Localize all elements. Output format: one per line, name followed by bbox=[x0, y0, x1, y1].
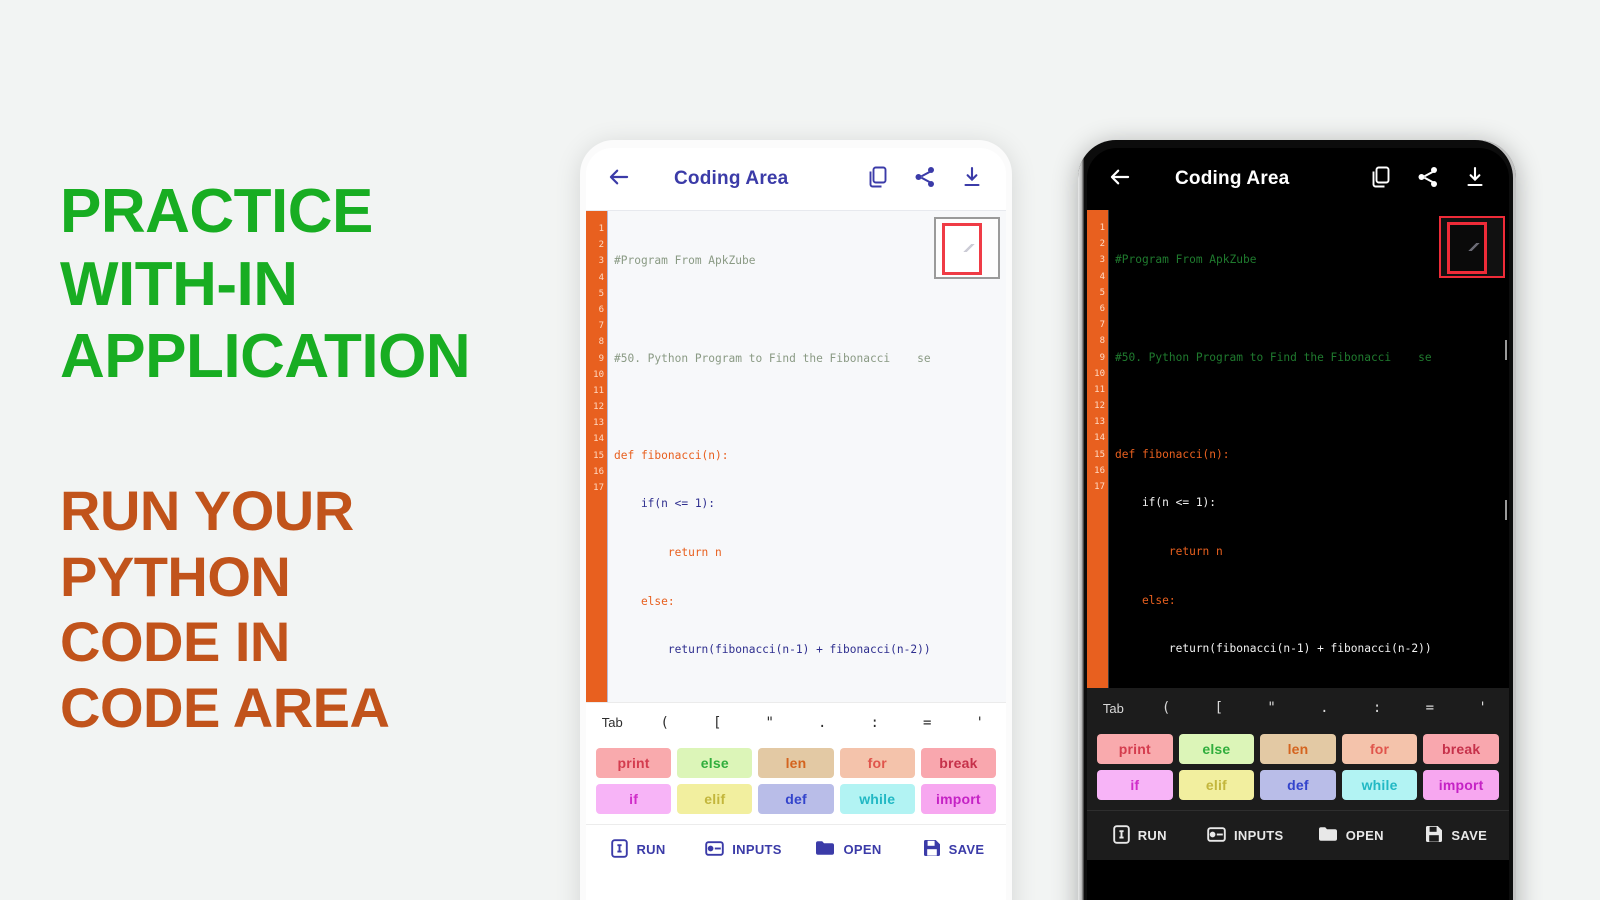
line-number: 17 bbox=[1087, 479, 1105, 495]
editor-scrollbar[interactable] bbox=[1505, 500, 1507, 520]
keyword-row-2: if elif def while import bbox=[596, 784, 996, 814]
keyword-def[interactable]: def bbox=[1260, 770, 1336, 800]
keyword-row-1: print else len for break bbox=[1097, 734, 1499, 764]
magnifier-preview-lines bbox=[955, 244, 983, 252]
symbol-key-colon[interactable]: : bbox=[1351, 700, 1404, 716]
action-bar-dark: RUN INPUTS OPEN bbox=[1087, 810, 1509, 860]
code-line: #50. Python Program to Find the Fibonacc… bbox=[1115, 350, 1509, 366]
symbol-key-paren[interactable]: ( bbox=[639, 715, 692, 731]
page-title: Coding Area bbox=[674, 168, 788, 190]
code-line: return(fibonacci(n-1) + fibonacci(n-2)) bbox=[614, 642, 1006, 658]
selection-magnifier bbox=[1439, 216, 1505, 278]
symbol-key-quote[interactable]: " bbox=[1245, 700, 1298, 716]
open-label: OPEN bbox=[843, 842, 881, 857]
headline-run-python: RUN YOUR PYTHON CODE IN CODE AREA bbox=[60, 478, 389, 740]
line-number: 9 bbox=[586, 351, 604, 367]
run-label: RUN bbox=[636, 842, 665, 857]
folder-icon bbox=[815, 840, 835, 859]
line-number-gutter: 1 2 3 4 5 6 7 8 9 10 11 12 13 14 15 16 1 bbox=[1087, 210, 1109, 688]
keyword-def[interactable]: def bbox=[758, 784, 833, 814]
line-number: 13 bbox=[1087, 414, 1105, 430]
appbar-actions-light bbox=[868, 166, 988, 193]
line-number: 8 bbox=[586, 334, 604, 350]
back-arrow-icon[interactable] bbox=[1109, 168, 1131, 191]
magnifier-selection-box bbox=[1447, 222, 1487, 274]
line-number: 1 bbox=[1087, 220, 1105, 236]
keyword-print[interactable]: print bbox=[596, 748, 671, 778]
download-icon[interactable] bbox=[1465, 166, 1485, 193]
keyword-while[interactable]: while bbox=[840, 784, 915, 814]
line-number: 15 bbox=[1087, 447, 1105, 463]
phone-light-theme: Coding Area 1 2 bbox=[580, 140, 1012, 900]
share-icon[interactable] bbox=[1417, 166, 1439, 193]
line-number: 4 bbox=[586, 270, 604, 286]
line-number: 6 bbox=[586, 302, 604, 318]
line-number: 6 bbox=[1087, 301, 1105, 317]
code-editor-dark[interactable]: 1 2 3 4 5 6 7 8 9 10 11 12 13 14 15 16 1 bbox=[1087, 210, 1509, 688]
app-screen-light: Coding Area 1 2 bbox=[586, 148, 1006, 900]
symbol-key-equals[interactable]: = bbox=[1404, 700, 1457, 716]
inputs-icon bbox=[1207, 826, 1226, 846]
line-number: 16 bbox=[1087, 463, 1105, 479]
code-line: def fibonacci(n): bbox=[614, 448, 1006, 464]
inputs-button[interactable]: INPUTS bbox=[691, 840, 796, 860]
symbol-key-bracket[interactable]: [ bbox=[691, 715, 744, 731]
run-icon bbox=[611, 839, 628, 861]
open-label: OPEN bbox=[1346, 828, 1384, 843]
line-number: 5 bbox=[586, 286, 604, 302]
line-number: 16 bbox=[586, 464, 604, 480]
run-label: RUN bbox=[1138, 828, 1167, 843]
marketing-copy: PRACTICE WITH-IN APPLICATION RUN YOUR PY… bbox=[60, 0, 540, 900]
copy-icon[interactable] bbox=[868, 166, 888, 193]
line-number-gutter: 1 2 3 4 5 6 7 8 9 10 11 12 13 14 15 16 1 bbox=[586, 211, 608, 702]
code-line: return n bbox=[1115, 544, 1509, 560]
code-line bbox=[614, 302, 1006, 318]
line-number: 12 bbox=[586, 399, 604, 415]
appbar-actions-dark bbox=[1371, 166, 1491, 193]
line-number: 3 bbox=[586, 253, 604, 269]
run-button[interactable]: RUN bbox=[586, 839, 691, 861]
symbol-key-dot[interactable]: . bbox=[796, 715, 849, 731]
line-number: 1 bbox=[586, 221, 604, 237]
open-button[interactable]: OPEN bbox=[796, 840, 901, 859]
keyword-else[interactable]: else bbox=[1179, 734, 1255, 764]
symbol-key-bracket[interactable]: [ bbox=[1193, 700, 1246, 716]
keyword-elif[interactable]: elif bbox=[677, 784, 752, 814]
save-label: SAVE bbox=[1451, 828, 1487, 843]
keyword-import[interactable]: import bbox=[921, 784, 996, 814]
code-text-light[interactable]: #Program From ApkZube #50. Python Progra… bbox=[608, 211, 1006, 702]
keyword-break[interactable]: break bbox=[921, 748, 996, 778]
promo-banner: PRACTICE WITH-IN APPLICATION RUN YOUR PY… bbox=[0, 0, 1600, 900]
symbol-key-row-light[interactable]: Tab ( [ " . : = ' bbox=[586, 702, 1006, 742]
open-button[interactable]: OPEN bbox=[1298, 826, 1404, 845]
code-line: if(n <= 1): bbox=[1115, 495, 1509, 511]
app-screen-dark: Coding Area 1 2 bbox=[1087, 148, 1509, 900]
save-icon bbox=[923, 839, 941, 860]
keyword-while[interactable]: while bbox=[1342, 770, 1418, 800]
keyword-len[interactable]: len bbox=[758, 748, 833, 778]
save-button[interactable]: SAVE bbox=[1404, 825, 1510, 846]
code-text-dark[interactable]: #Program From ApkZube #50. Python Progra… bbox=[1109, 210, 1509, 688]
download-icon[interactable] bbox=[962, 166, 982, 193]
keyword-len[interactable]: len bbox=[1260, 734, 1336, 764]
symbol-key-apostrophe[interactable]: ' bbox=[1456, 700, 1509, 716]
symbol-key-tab[interactable]: Tab bbox=[1087, 701, 1140, 716]
line-number: 13 bbox=[586, 415, 604, 431]
line-number: 5 bbox=[1087, 285, 1105, 301]
line-number: 4 bbox=[1087, 269, 1105, 285]
keyword-row-2: if elif def while import bbox=[1097, 770, 1499, 800]
keyword-pad-light: print else len for break if elif def whi… bbox=[586, 742, 1006, 824]
inputs-button[interactable]: INPUTS bbox=[1193, 826, 1299, 846]
symbol-key-tab[interactable]: Tab bbox=[586, 715, 639, 730]
code-line: else: bbox=[1115, 593, 1509, 609]
line-number: 7 bbox=[586, 318, 604, 334]
folder-icon bbox=[1318, 826, 1338, 845]
keyword-elif[interactable]: elif bbox=[1179, 770, 1255, 800]
symbol-key-row-dark[interactable]: Tab ( [ " . : = ' bbox=[1087, 688, 1509, 728]
line-number: 14 bbox=[586, 431, 604, 447]
line-number: 8 bbox=[1087, 333, 1105, 349]
line-number: 11 bbox=[586, 383, 604, 399]
line-number: 11 bbox=[1087, 382, 1105, 398]
symbol-key-dot[interactable]: . bbox=[1298, 700, 1351, 716]
action-bar-light: RUN INPUTS OPEN bbox=[586, 824, 1006, 874]
selection-magnifier bbox=[934, 217, 1000, 279]
inputs-label: INPUTS bbox=[732, 842, 781, 857]
magnifier-selection-box bbox=[942, 223, 982, 275]
inputs-label: INPUTS bbox=[1234, 828, 1283, 843]
keyword-print[interactable]: print bbox=[1097, 734, 1173, 764]
line-number: 14 bbox=[1087, 430, 1105, 446]
code-line bbox=[1115, 301, 1509, 317]
keyword-if[interactable]: if bbox=[596, 784, 671, 814]
magnifier-preview-lines bbox=[1460, 243, 1488, 251]
keyword-for[interactable]: for bbox=[840, 748, 915, 778]
app-bar-dark: Coding Area bbox=[1087, 148, 1509, 210]
code-line: else: bbox=[614, 594, 1006, 610]
line-number: 2 bbox=[1087, 236, 1105, 252]
keyword-row-1: print else len for break bbox=[596, 748, 996, 778]
line-number: 10 bbox=[586, 367, 604, 383]
keyword-pad-dark: print else len for break if elif def whi… bbox=[1087, 728, 1509, 810]
line-number: 12 bbox=[1087, 398, 1105, 414]
symbol-key-apostrophe[interactable]: ' bbox=[954, 715, 1007, 731]
symbol-key-quote[interactable]: " bbox=[744, 715, 797, 731]
line-number: 9 bbox=[1087, 350, 1105, 366]
keyword-if[interactable]: if bbox=[1097, 770, 1173, 800]
symbol-key-equals[interactable]: = bbox=[901, 715, 954, 731]
keyword-import[interactable]: import bbox=[1423, 770, 1499, 800]
line-number: 10 bbox=[1087, 366, 1105, 382]
phone-dark-theme: Coding Area 1 2 bbox=[1078, 140, 1516, 900]
inputs-icon bbox=[705, 840, 724, 860]
code-line: return n bbox=[614, 545, 1006, 561]
editor-scrollbar[interactable] bbox=[1505, 340, 1507, 360]
run-button[interactable]: RUN bbox=[1087, 825, 1193, 847]
code-line: def fibonacci(n): bbox=[1115, 447, 1509, 463]
back-arrow-icon[interactable] bbox=[608, 168, 630, 191]
line-number: 15 bbox=[586, 448, 604, 464]
save-icon bbox=[1425, 825, 1443, 846]
code-line: return(fibonacci(n-1) + fibonacci(n-2)) bbox=[1115, 641, 1509, 657]
keyword-else[interactable]: else bbox=[677, 748, 752, 778]
page-title: Coding Area bbox=[1175, 168, 1289, 190]
line-number: 17 bbox=[586, 480, 604, 496]
line-number: 7 bbox=[1087, 317, 1105, 333]
keyword-break[interactable]: break bbox=[1423, 734, 1499, 764]
copy-icon[interactable] bbox=[1371, 166, 1391, 193]
code-editor-light[interactable]: 1 2 3 4 5 6 7 8 9 10 11 12 13 14 15 16 1 bbox=[586, 210, 1006, 702]
keyword-for[interactable]: for bbox=[1342, 734, 1418, 764]
code-line bbox=[614, 399, 1006, 415]
code-line: #50. Python Program to Find the Fibonacc… bbox=[614, 351, 1006, 367]
code-line: if(n <= 1): bbox=[614, 496, 1006, 512]
symbol-key-paren[interactable]: ( bbox=[1140, 700, 1193, 716]
headline-practice: PRACTICE WITH-IN APPLICATION bbox=[60, 176, 470, 394]
run-icon bbox=[1113, 825, 1130, 847]
save-button[interactable]: SAVE bbox=[901, 839, 1006, 860]
app-bar-light: Coding Area bbox=[586, 148, 1006, 210]
save-label: SAVE bbox=[949, 842, 985, 857]
code-line bbox=[614, 691, 1006, 702]
code-line bbox=[1115, 398, 1509, 414]
share-icon[interactable] bbox=[914, 166, 936, 193]
line-number: 3 bbox=[1087, 252, 1105, 268]
symbol-key-colon[interactable]: : bbox=[849, 715, 902, 731]
line-number: 2 bbox=[586, 237, 604, 253]
